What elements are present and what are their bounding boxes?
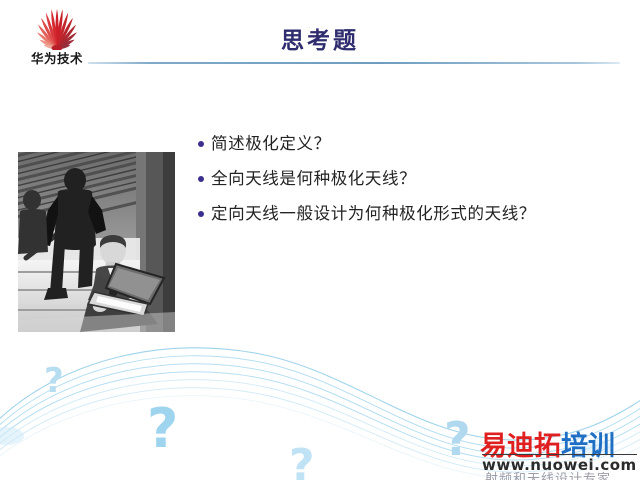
bullet-dot-icon (198, 211, 204, 217)
bullet-text: 定向天线一般设计为何种极化形式的天线？ (211, 202, 536, 226)
question-mark-decor: ? (289, 444, 315, 480)
list-item: 定向天线一般设计为何种极化形式的天线？ (198, 202, 618, 226)
header-divider (88, 62, 620, 64)
bullet-dot-icon (198, 141, 204, 147)
slide-header: 华为技术 思考题 (0, 0, 640, 72)
question-mark-decor: ? (147, 402, 178, 456)
list-item: 简述极化定义？ (198, 132, 618, 156)
slide-canvas: 华为技术 思考题 (0, 0, 640, 480)
photo-illustration (18, 152, 175, 332)
question-mark-decor: ? (444, 416, 471, 462)
businessmen-photo (18, 152, 175, 332)
watermark-tagline: 射频和天线设计专家 (485, 468, 611, 480)
watermark: 易迪拓培训 www.nuowei.com 射频和天线设计专家 (480, 424, 640, 480)
bullet-dot-icon (198, 176, 204, 182)
question-mark-decor: ? (44, 364, 64, 398)
bullet-text: 全向天线是何种极化天线？ (211, 167, 416, 191)
bullet-list: 简述极化定义？ 全向天线是何种极化天线？ 定向天线一般设计为何种极化形式的天线？ (198, 132, 618, 237)
page-title: 思考题 (0, 21, 640, 55)
bullet-text: 简述极化定义？ (211, 132, 331, 156)
list-item: 全向天线是何种极化天线？ (198, 167, 618, 191)
